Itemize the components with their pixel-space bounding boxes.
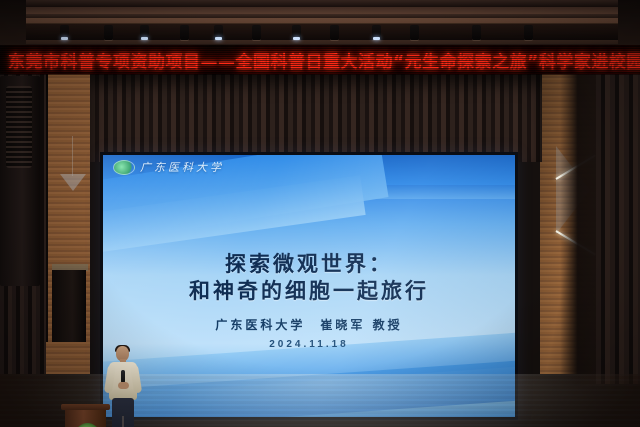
stage-spotlight-icon <box>104 25 113 40</box>
auditorium-photo: 东莞市科普专项资助项目——全国科普日重大活动“元生命探索之旅”科学家进校园 <box>0 0 640 427</box>
loudspeaker-left <box>0 76 40 286</box>
green-tree-emblem-icon <box>75 423 100 427</box>
ceiling-beam-mid <box>0 14 640 18</box>
slide-text-block: 探索微观世界： 和神奇的细胞一起旅行 广东医科大学 崔晓军 教授 2024.11… <box>103 251 515 350</box>
globe-leaf-logo-icon <box>113 160 135 175</box>
university-logo: 广东医科大学 <box>113 159 224 175</box>
side-equipment-box <box>52 270 86 342</box>
slide-title-line1: 探索微观世界： <box>103 251 515 278</box>
stage-curtain-right <box>596 74 640 384</box>
ceiling-beam-top <box>0 0 640 7</box>
wooden-lectern <box>63 404 108 427</box>
ceiling-right-edge <box>618 0 640 46</box>
stage-spotlight-icon <box>252 25 261 40</box>
led-banner-text: 东莞市科普专项资助项目——全国科普日重大活动“元生命探索之旅”科学家进校园 <box>8 48 640 73</box>
stage-spotlight-icon <box>140 25 149 40</box>
stage-spotlight-icon <box>60 25 69 40</box>
lighting-truss <box>8 23 632 40</box>
stage-spotlight-icon <box>410 25 419 40</box>
stage-floor-shadow-right <box>520 374 640 427</box>
speaker-grill-icon <box>6 86 32 168</box>
lamp-cable <box>72 136 73 176</box>
slide-title-line2: 和神奇的细胞一起旅行 <box>103 278 515 305</box>
presenter-on-stage <box>105 346 141 427</box>
presenter-hands <box>118 382 129 389</box>
stage-spotlight-icon <box>472 25 481 40</box>
stage-spotlight-icon <box>214 25 223 40</box>
led-banner: 东莞市科普专项资助项目——全国科普日重大活动“元生命探索之旅”科学家进校园 <box>0 44 640 76</box>
stage-curtain-top <box>90 74 542 162</box>
presenter-leg-gap <box>122 416 124 427</box>
university-logo-text: 广东医科大学 <box>140 159 224 175</box>
stage-spotlight-icon <box>524 25 533 40</box>
ceiling <box>0 0 640 46</box>
lectern-body <box>65 410 106 427</box>
stage-spotlight-icon <box>180 25 189 40</box>
ceiling-left-edge <box>0 0 26 46</box>
hall-interior: 广东医科大学 探索微观世界： 和神奇的细胞一起旅行 广东医科大学 崔晓军 教授 … <box>0 74 640 427</box>
stage-spotlight-icon <box>330 25 339 40</box>
slide-date: 2024.11.18 <box>103 339 515 350</box>
slide-presenter: 广东医科大学 崔晓军 教授 <box>103 316 515 333</box>
hanging-lamp-icon <box>60 174 86 191</box>
stage-spotlight-icon <box>372 25 381 40</box>
stage-spotlight-icon <box>292 25 301 40</box>
